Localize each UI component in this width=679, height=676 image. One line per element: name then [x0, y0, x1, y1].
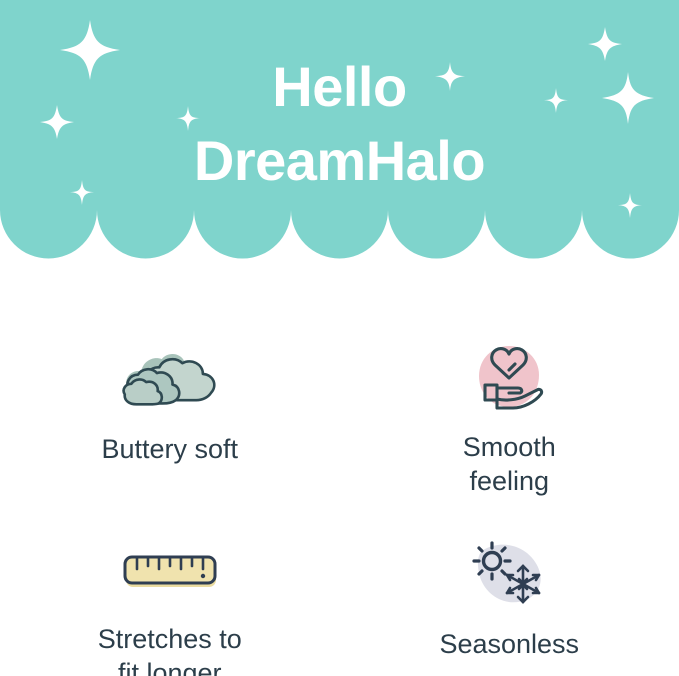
feature-item-smooth-feeling: Smooth feeling: [340, 300, 679, 495]
product-feature-card: Hello DreamHalo: [0, 0, 679, 676]
feature-item-seasonless: Seasonless: [340, 495, 679, 676]
feature-grid: Buttery soft: [0, 300, 679, 676]
feature-item-stretches: Stretches to fit longer: [0, 495, 340, 676]
sun-snowflake-icon: [449, 537, 569, 609]
page-title: Hello DreamHalo: [0, 50, 679, 198]
cloud-icon: [110, 342, 230, 414]
ruler-dot: [201, 573, 205, 577]
hero-banner: Hello DreamHalo: [0, 0, 679, 262]
hand-holding-heart-icon: [449, 342, 569, 412]
feature-label: Stretches to fit longer: [98, 622, 242, 676]
feature-item-buttery-soft: Buttery soft: [0, 300, 340, 495]
feature-label: Smooth feeling: [463, 430, 556, 498]
feature-label: Buttery soft: [101, 432, 238, 466]
feature-label: Seasonless: [439, 627, 579, 661]
ruler-icon: [110, 537, 230, 604]
